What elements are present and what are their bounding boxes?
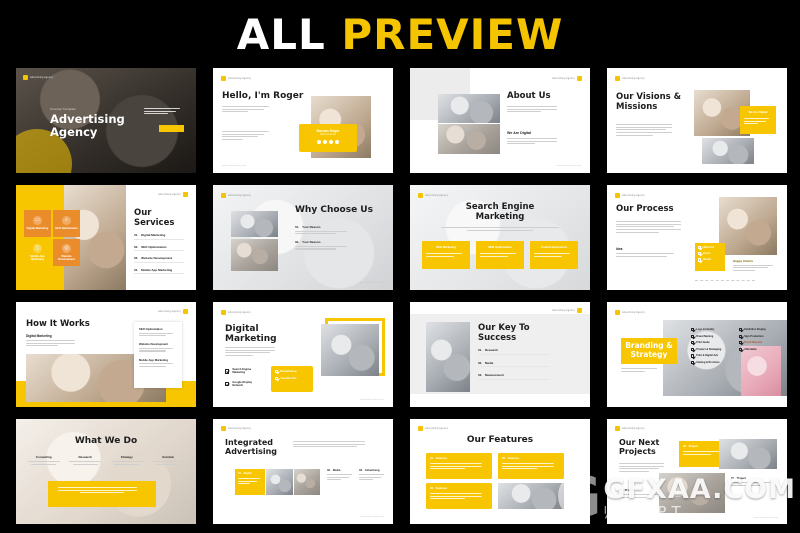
list-item: Print Guide: [691, 341, 721, 344]
check-icon: [698, 258, 701, 261]
slide-photo-1: [266, 469, 293, 495]
list-item: 02. Your Reason: [295, 240, 353, 249]
highlight-card: Remarketing Youtube Ads: [271, 366, 313, 392]
slide-title: Our Services: [134, 209, 182, 228]
slide-body-2: [222, 131, 274, 142]
slide-thumb-about-us[interactable]: Advertising Agency About Us We Are Digit…: [410, 68, 590, 173]
vision-card-title: We Are Digital: [744, 110, 772, 114]
list-item: 01. Research: [478, 348, 558, 355]
check-icon: [275, 370, 278, 373]
list-item: 02. Media: [327, 469, 355, 482]
list-item: 03. Measurement: [478, 373, 558, 380]
slide-title: How It Works: [26, 320, 90, 330]
slide-background-photo: [410, 185, 590, 290]
slide-logo: Advertising Agency: [418, 426, 448, 431]
list-item: Youtube Ads: [275, 377, 309, 380]
slide-photo-2: [659, 473, 725, 513]
check-icon: [691, 348, 694, 351]
step-item: Welcome: [698, 246, 722, 249]
list-item: Product & Packaging: [691, 348, 721, 351]
service-tile-mobile-app-marketing[interactable]: ▯ Mobile App Marketing: [24, 239, 51, 266]
list-item: 02. Media: [478, 361, 558, 368]
slide-photo-2: [702, 138, 754, 164]
service-list: 01. Digital Marketing 02. SEO Optimizati…: [134, 233, 190, 276]
list-item: 03. Advertising: [359, 469, 387, 482]
slide-logo: Advertising Agency: [615, 310, 645, 315]
list-item: Search Engine Marketing: [225, 368, 260, 375]
slide-thumb-search-engine-marketing[interactable]: Advertising Agency Search Engine Marketi…: [410, 185, 590, 290]
slide-body-2: [507, 138, 563, 146]
slide-subheading: Idea: [616, 247, 622, 251]
slide-thumb-our-services[interactable]: Advertising Agency ▭ Digital Marketing ⌕…: [16, 185, 196, 290]
slide-logo: Advertising Agency: [615, 76, 645, 81]
slide-logo: Advertising Agency: [221, 193, 251, 198]
slide-thumb-digital-marketing[interactable]: Advertising Agency Digital Marketing Sea…: [213, 302, 393, 407]
slide-title: Our Features: [410, 435, 590, 445]
slide-logo: Advertising Agency: [418, 193, 448, 198]
sem-card[interactable]: SEM Optimization: [476, 241, 524, 269]
step-item: Result: [698, 258, 722, 261]
slide-subheading: We Are Digital: [507, 131, 531, 135]
slide-photo: [64, 185, 126, 290]
check-icon: [225, 369, 229, 373]
check-icon: [739, 328, 742, 331]
title-word-all: ALL: [237, 10, 326, 59]
slide-body: [225, 347, 281, 358]
list-item: Sign Production: [739, 335, 766, 338]
service-tile-website-development[interactable]: ◎ Website Development: [53, 239, 80, 266]
what-we-do-columns: Consulting Research Strategy Solution: [26, 455, 186, 465]
list-item: Remarketing: [275, 370, 309, 373]
slide-title: Our Process: [616, 205, 674, 215]
column-item: Consulting: [26, 455, 62, 465]
list-item: Brand Manuals: [739, 341, 766, 344]
slide-title: Why Choose Us: [295, 205, 373, 215]
profile-role: CEO & Founder: [304, 134, 352, 136]
slide-logo: Advertising Agency: [615, 426, 645, 431]
social-icons[interactable]: [304, 140, 352, 144]
slide-eyebrow: Creative Template: [50, 108, 76, 111]
profile-card: Basuan Roger CEO & Founder: [299, 124, 357, 152]
page-title: ALL PREVIEW: [237, 10, 564, 59]
service-tile-seo-optimization[interactable]: ⌕ SEO Optimization: [53, 210, 80, 237]
feature-card[interactable]: 01. Features: [426, 453, 492, 479]
slide-logo: Advertising Agency: [221, 426, 251, 431]
check-icon: [691, 328, 694, 331]
highlight-block: [48, 481, 156, 507]
service-tile-digital-marketing[interactable]: ▭ Digital Marketing: [24, 210, 51, 237]
list-item: 03. Website Development: [134, 256, 190, 263]
slide-thumb-cover[interactable]: Advertising Agency Creative Template Adv…: [16, 68, 196, 173]
slide-title: Our Visions & Missions: [616, 93, 686, 112]
list-item: 01. Your Reason: [295, 225, 353, 234]
check-icon: [698, 246, 701, 249]
slide-photo: [719, 197, 777, 255]
list-item: Mobile App Marketing: [139, 358, 177, 367]
branding-checks-right: Exhibition Display Sign Production Brand…: [739, 328, 766, 351]
process-note: Happy Clients: [733, 259, 777, 273]
slide-thumb-why-choose-us[interactable]: Advertising Agency Why Choose Us 01. You…: [213, 185, 393, 290]
list-item: Logo & Identity: [691, 328, 721, 331]
yellow-panel: [16, 185, 64, 290]
slide-photo-accent: [741, 346, 781, 396]
slide-logo: Advertising Agency: [552, 76, 582, 81]
slide-title: Branding & Strategy: [621, 342, 677, 359]
profile-name: Basuan Roger: [304, 129, 352, 133]
monitor-icon: ▭: [33, 216, 42, 225]
slide-thumb-how-it-works[interactable]: Advertising Agency How It Works Digital …: [16, 302, 196, 407]
slide-title: Hello, I'm Roger: [222, 91, 303, 101]
slide-body: [434, 227, 566, 231]
steps-card: SEO Optimization Website Development Mob…: [134, 322, 182, 388]
check-icon: [739, 348, 742, 351]
slide-photo-2: [231, 239, 278, 271]
list-item: Catalog & Brochure: [691, 361, 721, 364]
list-item: SEO Optimization: [139, 327, 177, 336]
slide-thumb-visions-missions[interactable]: Advertising Agency Our Visions & Mission…: [607, 68, 787, 173]
slide-body: [507, 106, 563, 114]
title-badge: Branding & Strategy: [621, 338, 677, 364]
branding-checks-left: Logo & Identity Brand Naming Print Guide…: [691, 328, 721, 364]
preview-page: ALL PREVIEW Advertising Agency Creative …: [0, 0, 800, 533]
code-icon: ◎: [62, 244, 71, 253]
check-icon: [698, 252, 701, 255]
check-icon: [691, 335, 694, 338]
column-item: Research: [68, 455, 104, 465]
read-more-button[interactable]: [159, 125, 184, 132]
slide-logo: Advertising Agency: [23, 75, 53, 80]
slide-logo: Advertising Agency: [615, 193, 645, 198]
slide-photo-1: [231, 211, 278, 237]
slide-thumb-our-features[interactable]: Advertising Agency Our Features 01. Feat…: [410, 419, 590, 524]
sem-cards: SEO Marketing SEM Optimization Content E…: [422, 241, 578, 269]
list-item: 03. Project: [731, 477, 775, 487]
list-item: 01. Project: [619, 489, 663, 499]
slide-logo: Advertising Agency: [221, 76, 251, 81]
step-item: Invest: [698, 252, 722, 255]
slide-title: Our Next Projects: [619, 439, 671, 457]
slide-photo-1: [438, 94, 500, 123]
title-word-preview: PREVIEW: [341, 10, 563, 59]
slide-thumb-our-process[interactable]: Advertising Agency Our Process Idea Welc…: [607, 185, 787, 290]
slide-logo: Advertising Agency: [552, 308, 582, 313]
slide-photo: [321, 324, 379, 376]
process-steps: Welcome Invest Result: [695, 243, 725, 271]
slide-photo-1: [719, 439, 777, 469]
vision-card: We Are Digital: [740, 106, 776, 134]
list-item: Exhibition Display: [739, 328, 766, 331]
slide-logo: Advertising Agency: [221, 310, 251, 315]
slide-body: [616, 124, 678, 137]
slide-title: Integrated Advertising: [225, 439, 283, 457]
check-icon: [739, 341, 742, 344]
slide-title: Advertising Agency: [50, 113, 130, 139]
slide-thumb-key-to-success[interactable]: Advertising Agency Our Key To Success 01…: [410, 302, 590, 407]
slide-title: About Us: [507, 92, 551, 102]
slide-title: What We Do: [16, 436, 196, 446]
check-list: Search Engine Marketing Google Display N…: [225, 368, 260, 388]
list-item: 04. Mobile App Marketing: [134, 268, 190, 275]
list-item: Google Display Network: [225, 381, 260, 388]
slide-body: [616, 221, 688, 234]
page-header: ALL PREVIEW: [0, 0, 800, 68]
slide-body-1: [222, 106, 274, 114]
list-item: Brand Naming: [691, 335, 721, 338]
slide-photo-2: [294, 469, 320, 495]
slide-photo-2: [438, 124, 500, 154]
column-item: Strategy: [109, 455, 145, 465]
sem-card[interactable]: Content Experience: [530, 241, 578, 269]
reason-list: 01. Your Reason 02. Your Reason: [295, 225, 353, 251]
column-item: Solution: [151, 455, 187, 465]
slide-thumb-next-projects[interactable]: Advertising Agency Our Next Projects 01.…: [607, 419, 787, 524]
slide-title: Our Key To Success: [478, 324, 538, 343]
success-list: 01. Research 02. Media 03. Measurement: [478, 348, 558, 381]
slide-body-2: [616, 253, 680, 258]
mobile-icon: ▯: [33, 244, 42, 253]
slide-body: [26, 340, 80, 348]
check-icon: [225, 382, 229, 386]
slide-thumb-hello-roger[interactable]: Advertising Agency Hello, I'm Roger Basu…: [213, 68, 393, 173]
slide-title: Digital Marketing: [225, 324, 281, 344]
list-item: Print & Digital Ads: [691, 354, 721, 357]
list-item: Affordable: [739, 348, 766, 351]
check-icon: [739, 335, 742, 338]
slide-photo: [498, 483, 564, 509]
slide-body: [144, 108, 184, 116]
slide-subheading: Digital Marketing: [26, 334, 52, 338]
check-icon: [275, 377, 278, 380]
sem-card[interactable]: SEO Marketing: [422, 241, 470, 269]
search-icon: ⌕: [62, 216, 71, 225]
slide-background-photo: [16, 419, 196, 524]
check-icon: [691, 354, 694, 357]
slide-thumb-integrated-advertising[interactable]: Advertising Agency Integrated Advertisin…: [213, 419, 393, 524]
connector-line: [695, 280, 755, 281]
slide-body: [621, 368, 661, 373]
feature-card[interactable]: 02. Features: [498, 453, 564, 479]
slide-grid: Advertising Agency Creative Template Adv…: [16, 68, 787, 529]
list-item: Website Development: [139, 342, 177, 351]
list-item: 01. Digital Marketing: [134, 233, 190, 240]
slide-thumb-branding-strategy[interactable]: Advertising Agency Branding & Strategy L…: [607, 302, 787, 407]
slide-title: Search Engine Marketing: [410, 203, 590, 222]
slide-photo: [426, 322, 470, 392]
slide-logo: Advertising Agency: [158, 309, 188, 314]
slide-logo: Advertising Agency: [158, 192, 188, 197]
list-item: 02. SEO Optimization: [134, 245, 190, 252]
slide-body: [293, 441, 373, 449]
advert-card: 01. Digital: [235, 469, 265, 495]
check-icon: [691, 341, 694, 344]
feature-card[interactable]: 03. Features: [426, 483, 492, 509]
check-icon: [691, 361, 694, 364]
slide-thumb-what-we-do[interactable]: What We Do Consulting Research Strategy …: [16, 419, 196, 524]
